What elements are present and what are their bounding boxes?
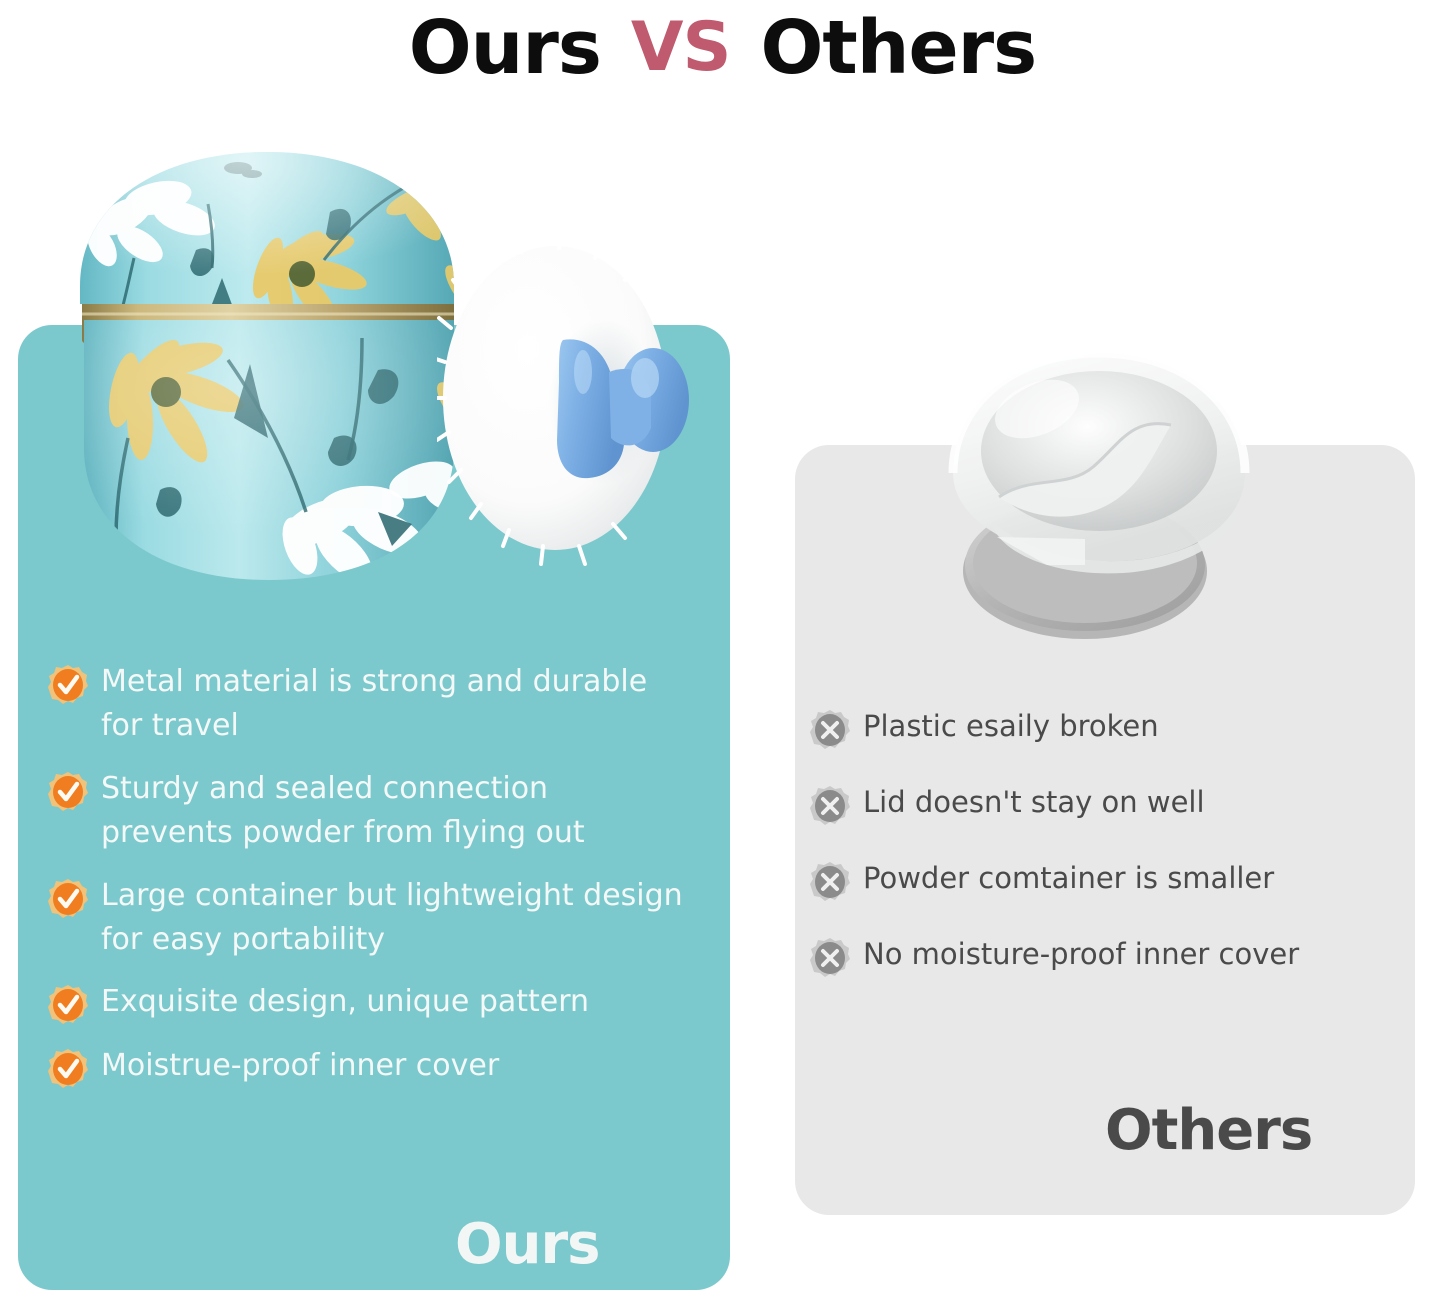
check-badge-icon [48,771,88,813]
cross-badge-icon [810,937,850,979]
header-ours-label: Ours [409,11,601,85]
list-item: Moistrue-proof inner cover [48,1044,688,1090]
list-item: Powder comtainer is smaller [810,857,1410,903]
list-item-label: Exquisite design, unique pattern [101,980,589,1024]
page-header: Ours VS Others [0,0,1445,95]
list-item-label: Large container but lightweight design f… [101,874,688,963]
cross-badge-icon [810,861,850,903]
others-brand-label: Others [1105,1098,1312,1163]
list-item: No moisture-proof inner cover [810,933,1410,979]
others-product-image [935,325,1265,655]
list-item-label: Lid doesn't stay on well [863,781,1205,824]
list-item: Lid doesn't stay on well [810,781,1410,827]
check-badge-icon [48,878,88,920]
cross-badge-icon [810,785,850,827]
check-badge-icon [48,664,88,706]
list-item-label: Moistrue-proof inner cover [101,1044,499,1088]
powder-puff-image [437,232,707,572]
header-others-label: Others [761,11,1037,85]
list-item: Plastic esaily broken [810,705,1410,751]
list-item-label: No moisture-proof inner cover [863,933,1299,976]
list-item: Exquisite design, unique pattern [48,980,688,1026]
cross-badge-icon [810,709,850,751]
list-item-label: Sturdy and sealed connection prevents po… [101,767,688,856]
list-item: Sturdy and sealed connection prevents po… [48,767,688,856]
check-badge-icon [48,984,88,1026]
header-vs-label: VS [631,14,731,82]
others-feature-list: Plastic esaily broken Lid doesn't stay o… [810,705,1410,1009]
list-item: Large container but lightweight design f… [48,874,688,963]
ours-feature-list: Metal material is strong and durable for… [48,660,688,1108]
ours-brand-label: Ours [455,1212,599,1277]
list-item-label: Plastic esaily broken [863,705,1159,748]
list-item: Metal material is strong and durable for… [48,660,688,749]
check-badge-icon [48,1048,88,1090]
list-item-label: Powder comtainer is smaller [863,857,1274,900]
list-item-label: Metal material is strong and durable for… [101,660,688,749]
